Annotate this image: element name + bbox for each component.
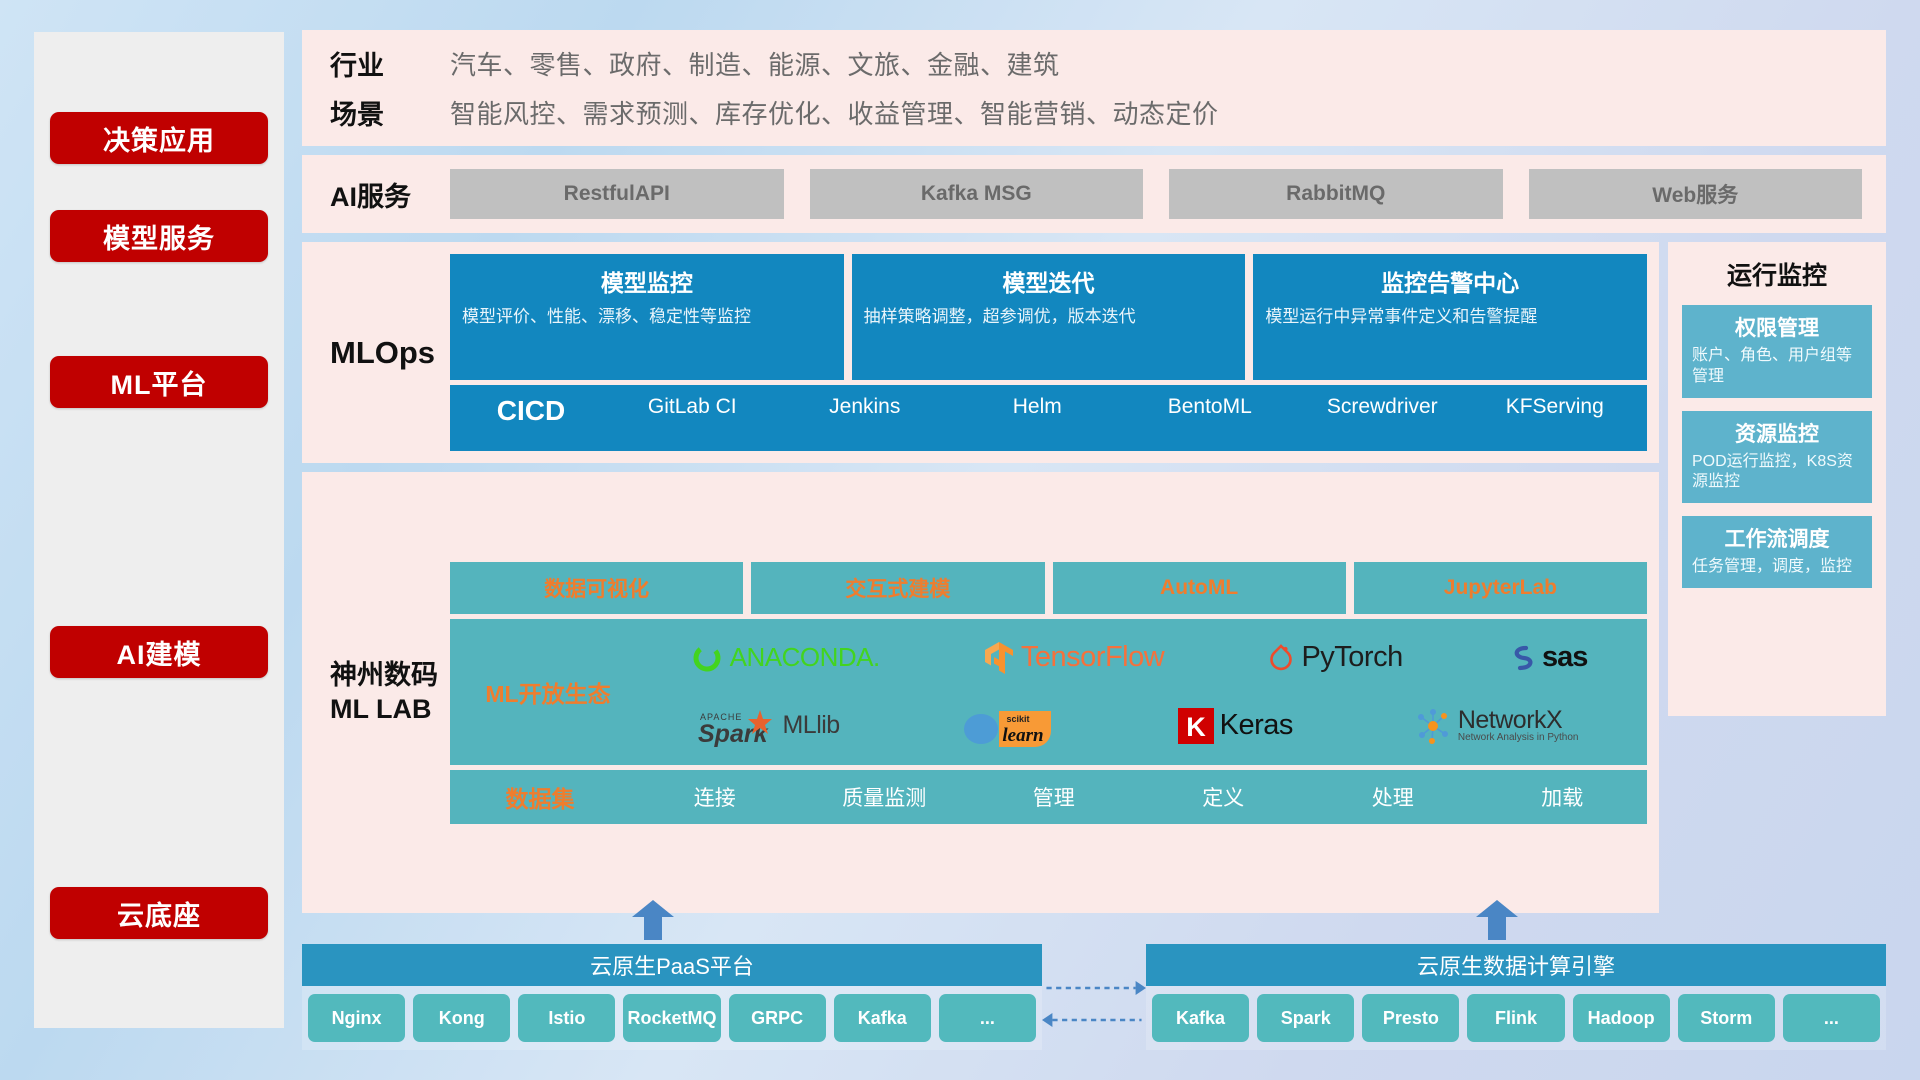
ml-platform-row: MLOps 模型监控 模型评价、性能、漂移、稳定性等监控 模型迭代 抽样策略调整… <box>302 242 1886 463</box>
mlops-card-model-iteration[interactable]: 模型迭代 抽样策略调整，超参调优，版本迭代 <box>852 254 1246 380</box>
card-title: 监控告警中心 <box>1265 264 1635 298</box>
tool-interactive-modeling[interactable]: 交互式建模 <box>751 562 1044 614</box>
chip-kafka[interactable]: Kafka <box>834 994 931 1042</box>
chip-presto[interactable]: Presto <box>1362 994 1459 1042</box>
scenario-values: 智能风控、需求预测、库存优化、收益管理、智能营销、动态定价 <box>450 94 1219 131</box>
cloud-link-arrows <box>1042 950 1146 1050</box>
card-title: 模型迭代 <box>864 264 1234 298</box>
ml-open-ecosystem: ML开放生态 ANACONDA. <box>450 619 1647 765</box>
ecosystem-label: ML开放生态 <box>458 675 638 709</box>
rail-label: 决策应用 <box>103 119 215 158</box>
mlops-card-alert-center[interactable]: 监控告警中心 模型运行中异常事件定义和告警提醒 <box>1253 254 1647 380</box>
paas-title: 云原生PaaS平台 <box>302 944 1042 986</box>
rail-label: 云底座 <box>117 894 201 933</box>
bidirectional-dashed-arrows-icon <box>1042 950 1146 1050</box>
cicd-item-kfserving[interactable]: KFServing <box>1469 395 1642 419</box>
cicd-item-helm[interactable]: Helm <box>951 395 1124 419</box>
chip-more-right[interactable]: ... <box>1783 994 1880 1042</box>
compute-engine-title: 云原生数据计算引擎 <box>1146 944 1886 986</box>
dataset-item-quality[interactable]: 质量监测 <box>800 782 970 812</box>
dataset-item-manage[interactable]: 管理 <box>969 782 1139 812</box>
dataset-item-process[interactable]: 处理 <box>1308 782 1478 812</box>
networkx-logo: NetworkX Network Analysis in Python <box>1414 708 1579 744</box>
chip-nginx[interactable]: Nginx <box>308 994 405 1042</box>
up-arrow-paas-icon <box>632 900 674 940</box>
sas-icon <box>1506 642 1536 674</box>
dataset-row: 数据集 连接 质量监测 管理 定义 处理 加载 <box>450 770 1647 824</box>
cicd-item-jenkins[interactable]: Jenkins <box>779 395 952 419</box>
ml-lab-row: 神州数码 ML LAB 数据可视化 交互式建模 AutoML JupyterLa… <box>302 472 1886 913</box>
cicd-label: CICD <box>456 395 606 427</box>
service-box-web[interactable]: Web服务 <box>1529 169 1863 219</box>
rail-item-model-service[interactable]: 模型服务 <box>50 210 268 262</box>
rail-item-ai-modeling[interactable]: AI建模 <box>50 626 268 678</box>
keras-icon: K <box>1178 708 1214 744</box>
anaconda-icon <box>690 641 724 675</box>
chip-hadoop[interactable]: Hadoop <box>1573 994 1670 1042</box>
card-title: 权限管理 <box>1692 312 1862 342</box>
ai-service-band: AI服务 RestfulAPI Kafka MSG RabbitMQ Web服务 <box>302 155 1886 233</box>
spark-icon: APACHE Spark <box>698 704 776 748</box>
service-box-restfulapi[interactable]: RestfulAPI <box>450 169 784 219</box>
ai-service-label: AI服务 <box>330 175 450 214</box>
sas-text: sas <box>1542 641 1587 674</box>
cicd-item-screwdriver[interactable]: Screwdriver <box>1296 395 1469 419</box>
card-desc: 模型运行中异常事件定义和告警提醒 <box>1265 306 1635 329</box>
chip-istio[interactable]: Istio <box>518 994 615 1042</box>
networkx-subtitle: Network Analysis in Python <box>1458 733 1579 743</box>
dataset-label: 数据集 <box>450 780 630 814</box>
industry-values: 汽车、零售、政府、制造、能源、文旅、金融、建筑 <box>450 45 1060 82</box>
card-title: 模型监控 <box>462 264 832 298</box>
pytorch-text: PyTorch <box>1301 641 1402 674</box>
ml-lab-band: 神州数码 ML LAB 数据可视化 交互式建模 AutoML JupyterLa… <box>302 472 1659 913</box>
ecosystem-logo-row-2: APACHE Spark MLlib <box>638 693 1639 759</box>
applications-band: 行业 汽车、零售、政府、制造、能源、文旅、金融、建筑 场景 智能风控、需求预测、… <box>302 30 1886 146</box>
svg-text:K: K <box>1186 712 1206 742</box>
chip-kong[interactable]: Kong <box>413 994 510 1042</box>
anaconda-logo: ANACONDA. <box>690 641 880 675</box>
tensorflow-text: TensorFlow <box>1021 641 1164 674</box>
industry-label: 行业 <box>330 44 450 83</box>
networkx-text: NetworkX <box>1458 708 1579 733</box>
main-stack: 行业 汽车、零售、政府、制造、能源、文旅、金融、建筑 场景 智能风控、需求预测、… <box>302 30 1886 1050</box>
rail-item-decision-app[interactable]: 决策应用 <box>50 112 268 164</box>
mlops-card-model-monitor[interactable]: 模型监控 模型评价、性能、漂移、稳定性等监控 <box>450 254 844 380</box>
monitoring-title: 运行监控 <box>1682 256 1872 292</box>
pytorch-logo: PyTorch <box>1267 641 1402 674</box>
ecosystem-logo-row-1: ANACONDA. TensorFlow <box>638 625 1639 691</box>
dataset-item-load[interactable]: 加载 <box>1478 782 1648 812</box>
anaconda-text: ANACONDA. <box>730 642 880 673</box>
sas-logo: sas <box>1506 641 1587 674</box>
data-compute-engine-panel: 云原生数据计算引擎 Kafka Spark Presto Flink Hadoo… <box>1146 944 1886 1050</box>
scikit-learn-icon: scikit learn <box>961 703 1057 749</box>
tensorflow-icon <box>983 640 1015 676</box>
service-box-rabbitmq[interactable]: RabbitMQ <box>1169 169 1503 219</box>
rail-label: AI建模 <box>117 633 202 672</box>
tool-jupyterlab[interactable]: JupyterLab <box>1354 562 1647 614</box>
card-desc: 账户、角色、用户组等管理 <box>1692 346 1862 388</box>
service-box-kafka-msg[interactable]: Kafka MSG <box>810 169 1144 219</box>
keras-text: Keras <box>1220 709 1293 742</box>
ml-lab-label-line1: 神州数码 <box>330 659 450 693</box>
paas-platform-panel: 云原生PaaS平台 Nginx Kong Istio RocketMQ GRPC… <box>302 944 1042 1050</box>
tool-automl[interactable]: AutoML <box>1053 562 1346 614</box>
cicd-item-gitlab-ci[interactable]: GitLab CI <box>606 395 779 419</box>
scenario-line: 场景 智能风控、需求预测、库存优化、收益管理、智能营销、动态定价 <box>330 93 1886 132</box>
cloud-base-row: 云原生PaaS平台 Nginx Kong Istio RocketMQ GRPC… <box>302 944 1886 1050</box>
svg-text:learn: learn <box>1002 725 1043 746</box>
mlops-label: MLOps <box>330 335 450 371</box>
scenario-label: 场景 <box>330 93 450 132</box>
chip-more-left[interactable]: ... <box>939 994 1036 1042</box>
keras-logo: K Keras <box>1178 708 1293 744</box>
spark-mllib-logo: APACHE Spark MLlib <box>698 704 839 748</box>
chip-flink[interactable]: Flink <box>1467 994 1564 1042</box>
tool-data-visualization[interactable]: 数据可视化 <box>450 562 743 614</box>
card-desc: 抽样策略调整，超参调优，版本迭代 <box>864 306 1234 329</box>
up-arrow-compute-icon <box>1476 900 1518 940</box>
architecture-diagram: 决策应用 模型服务 ML平台 AI建模 云底座 行业 汽车、零售、政府、制造、能… <box>0 0 1920 1080</box>
card-desc: 模型评价、性能、漂移、稳定性等监控 <box>462 306 832 329</box>
rail-item-ml-platform[interactable]: ML平台 <box>50 356 268 408</box>
ml-lab-label-line2: ML LAB <box>330 693 450 727</box>
layer-rail: 决策应用 模型服务 ML平台 AI建模 云底座 <box>34 32 284 1028</box>
mllib-text: MLlib <box>782 711 839 740</box>
monitoring-card-permission[interactable]: 权限管理 账户、角色、用户组等管理 <box>1682 305 1872 398</box>
ml-lab-label: 神州数码 ML LAB <box>330 659 450 727</box>
chip-grpc[interactable]: GRPC <box>729 994 826 1042</box>
chip-kafka-right[interactable]: Kafka <box>1152 994 1249 1042</box>
pytorch-icon <box>1267 642 1295 674</box>
svg-text:scikit: scikit <box>1006 714 1029 724</box>
card-title: 资源监控 <box>1692 418 1862 448</box>
dataset-item-define[interactable]: 定义 <box>1139 782 1309 812</box>
tensorflow-logo: TensorFlow <box>983 640 1164 676</box>
dataset-item-connect[interactable]: 连接 <box>630 782 800 812</box>
chip-rocketmq[interactable]: RocketMQ <box>623 994 720 1042</box>
cicd-bar: CICD GitLab CI Jenkins Helm BentoML Scre… <box>450 385 1647 451</box>
scikit-learn-logo: scikit learn <box>961 703 1057 749</box>
cicd-item-bentoml[interactable]: BentoML <box>1124 395 1297 419</box>
monitoring-spacer <box>1668 472 1886 913</box>
networkx-icon <box>1414 708 1452 744</box>
mlops-band: MLOps 模型监控 模型评价、性能、漂移、稳定性等监控 模型迭代 抽样策略调整… <box>302 242 1659 463</box>
rail-label: 模型服务 <box>103 217 215 256</box>
rail-item-cloud-base[interactable]: 云底座 <box>50 887 268 939</box>
industry-line: 行业 汽车、零售、政府、制造、能源、文旅、金融、建筑 <box>330 44 1886 83</box>
rail-label: ML平台 <box>111 363 208 402</box>
chip-spark[interactable]: Spark <box>1257 994 1354 1042</box>
chip-storm[interactable]: Storm <box>1678 994 1775 1042</box>
